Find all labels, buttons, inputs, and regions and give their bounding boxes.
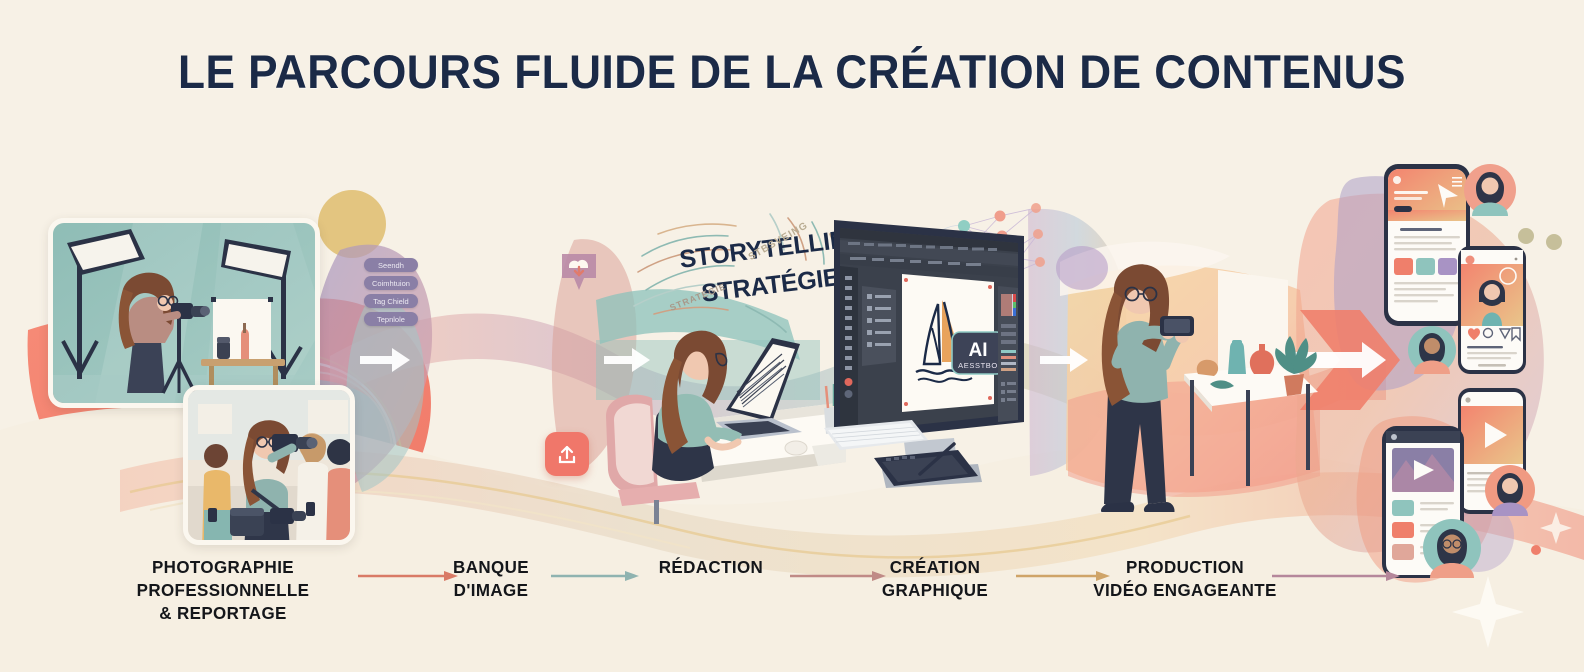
avatar-bubble-2 <box>1408 326 1456 374</box>
tag-pill[interactable]: Coimhtuion <box>364 276 418 290</box>
phone-mockup-1 <box>1384 164 1470 326</box>
cloud-download-badge <box>556 248 602 296</box>
scene-designer-monitor: AI AESSTBO <box>824 190 1054 510</box>
phone-mockup-2 <box>1458 246 1526 374</box>
page-title: LE PARCOURS FLUIDE DE LA CRÉATION DE CON… <box>48 44 1537 99</box>
process-steps: PHOTOGRAPHIEPROFESSIONNELLE& REPORTAGEBA… <box>0 556 1584 656</box>
step-label-line: VIDÉO ENGAGEANTE <box>1010 579 1359 602</box>
avatar-bubble-1 <box>1464 164 1516 216</box>
tag-pill[interactable]: Tepnlole <box>364 312 418 326</box>
ai-badge-title: AI <box>969 340 988 361</box>
scene-video-shoot <box>1078 252 1328 512</box>
ai-badge-subtitle: AESSTBO <box>958 361 998 370</box>
infographic-root: Search.. × SeendhCoimhtuionTag ChieldTep… <box>0 0 1584 672</box>
scene-studio-photography <box>48 218 320 408</box>
step-arrow-after-production-video <box>1272 570 1400 582</box>
upload-button[interactable] <box>545 432 589 476</box>
scene-event-reportage <box>183 385 355 545</box>
scene-writer-desk <box>596 300 846 530</box>
step-label-line: & REPORTAGE <box>48 602 397 625</box>
scene-social-phones <box>1340 150 1584 580</box>
upload-icon <box>556 443 578 465</box>
tag-pill[interactable]: Seendh <box>364 258 418 272</box>
step-label-line: D'IMAGE <box>316 579 665 602</box>
image-bank-tag-list: SeendhCoimhtuionTag ChieldTepnlole <box>364 258 418 330</box>
tag-pill[interactable]: Tag Chield <box>364 294 418 308</box>
